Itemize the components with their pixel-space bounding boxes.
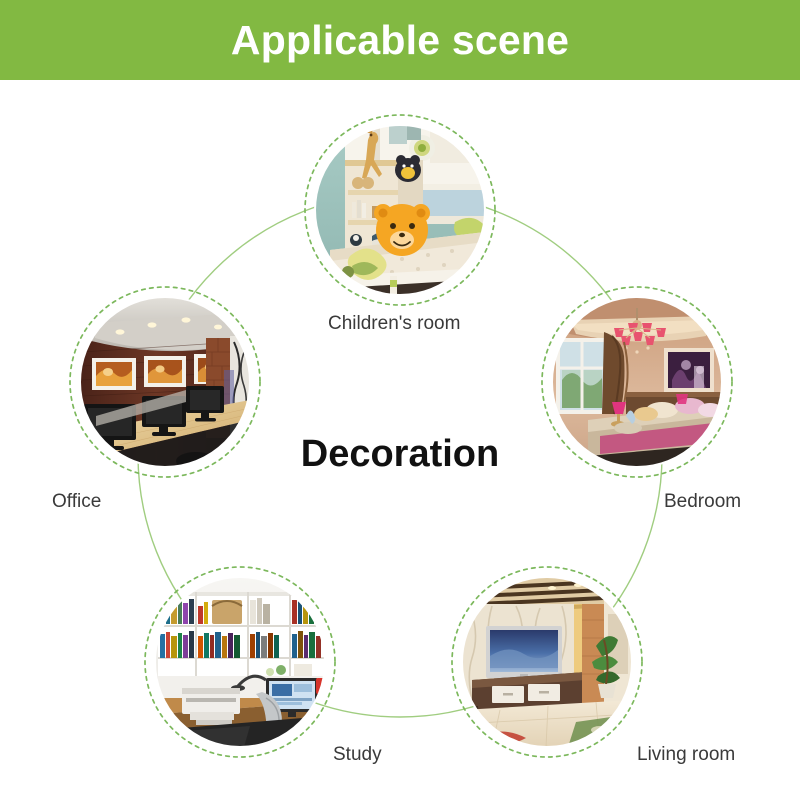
caption-children-room: Children's room xyxy=(328,314,460,333)
node-living-room[interactable] xyxy=(452,567,642,757)
plush-toy xyxy=(395,155,421,182)
node-children-room[interactable] xyxy=(305,115,495,305)
page-title: Applicable scene xyxy=(231,20,569,61)
bedroom-artwork xyxy=(664,348,714,392)
node-study[interactable] xyxy=(145,567,335,757)
bedroom-photo xyxy=(552,297,722,472)
printer xyxy=(182,688,240,725)
scene-wheel-diagram xyxy=(0,80,800,800)
television xyxy=(486,626,562,678)
diagram-stage: Decoration Children's room Bedroom Livin… xyxy=(0,80,800,800)
node-office[interactable] xyxy=(70,287,260,477)
caption-office: Office xyxy=(52,492,101,511)
header-banner: Applicable scene xyxy=(0,0,800,80)
caption-bedroom: Bedroom xyxy=(664,492,741,511)
node-bedroom[interactable] xyxy=(542,287,732,477)
caption-study: Study xyxy=(333,745,382,764)
caption-living-room: Living room xyxy=(637,745,735,764)
applicable-scene-infographic: Applicable scene xyxy=(0,0,800,800)
